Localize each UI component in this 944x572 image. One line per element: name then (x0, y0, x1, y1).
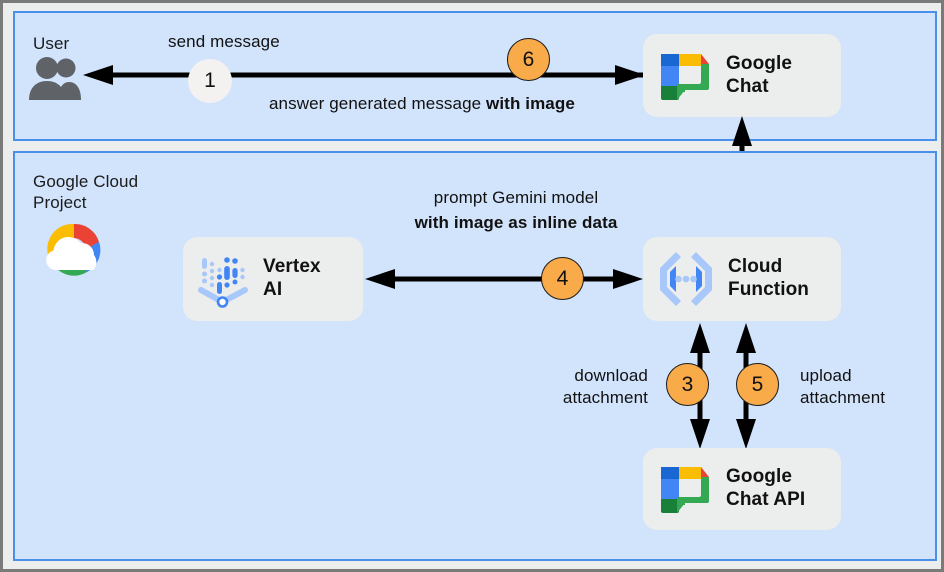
panel-user-title: User (33, 33, 69, 54)
vertex-ai-icon (195, 250, 253, 308)
label-upload-attachment: upload attachment (800, 365, 885, 408)
label-answer-generated-regular: answer generated message (269, 94, 486, 113)
label-answer-generated-bold: with image (486, 94, 575, 113)
google-chat-icon (657, 461, 713, 517)
cloud-function-icon (657, 250, 715, 308)
label-send-message: send message (168, 31, 280, 53)
node-vertex-ai[interactable]: Vertex AI (183, 237, 363, 321)
google-cloud-icon (39, 222, 109, 277)
step-badge-1: 1 (188, 59, 232, 103)
node-cloud-function-label: Cloud Function (728, 256, 809, 302)
google-chat-icon (657, 48, 713, 104)
label-download-attachment: download attachment (443, 365, 648, 408)
step-badge-3: 3 (666, 363, 709, 406)
node-cloud-function[interactable]: Cloud Function (643, 237, 841, 321)
arrow-cloudfunction-vertexai (365, 269, 643, 289)
step-badge-4: 4 (541, 257, 584, 300)
step-badge-6: 6 (507, 38, 550, 81)
label-prompt-gemini-bold: with image as inline data (391, 212, 641, 234)
diagram-canvas: User send message answer generated messa… (0, 0, 944, 572)
user-icon (25, 55, 83, 101)
label-answer-generated: answer generated message with image (269, 93, 575, 115)
step-badge-5: 5 (736, 363, 779, 406)
panel-google-cloud-project-title: Google Cloud Project (33, 171, 138, 214)
node-google-chat-api[interactable]: Google Chat API (643, 448, 841, 530)
node-google-chat[interactable]: Google Chat (643, 34, 841, 117)
node-vertex-ai-label: Vertex AI (263, 256, 321, 302)
node-google-chat-api-label: Google Chat API (726, 466, 805, 512)
node-google-chat-label: Google Chat (726, 53, 792, 99)
label-prompt-gemini-regular: prompt Gemini model (416, 187, 616, 209)
